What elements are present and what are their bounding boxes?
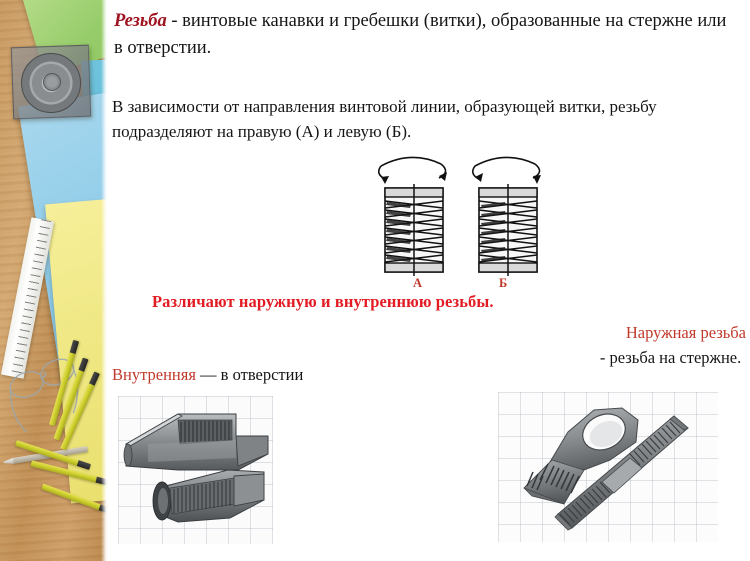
heading-thread-types: Различают наружную и внутреннюю резьбы. [152,292,494,312]
cd-disc [20,52,82,114]
outer-thread-annotation: Наружная резьба - резьба на стержне. [600,320,746,370]
figure-internal-thread: внутренняя поверхность [118,396,273,544]
internal-thread-lower [153,470,264,522]
paragraph-thread-direction: В зависимости от направления винтовой ли… [112,94,730,144]
title-term: Резьба [114,11,167,31]
left-hand-thread-body [479,184,537,276]
cd-hub [43,73,62,92]
figure-external-thread [498,392,718,542]
slide-title: Резьба - винтовые канавки и гребешки (ви… [114,8,739,62]
eye-bolt [524,408,638,504]
right-hand-thread-body [385,184,443,276]
cd-jewel-case [11,45,91,120]
thread-direction-diagram: А Б [363,146,563,298]
outer-thread-label: Наружная резьба [600,320,746,345]
photo-edge-fade [101,0,108,561]
thread-diagram-svg [363,146,563,276]
inner-thread-annotation: Внутренняя — в отверстии [112,365,303,385]
inner-thread-label: Внутренняя [112,365,196,384]
title-definition: - винтовые канавки и гребешки (витки), о… [114,11,726,58]
outer-thread-description: - резьба на стержне. [600,345,746,370]
inner-thread-description: — в отверстии [196,365,303,384]
internal-thread-upper [124,414,268,470]
decorative-photo-strip [0,0,108,561]
diagram-label-left-hand: Б [499,276,507,291]
slide-content: Резьба - винтовые канавки и гребешки (ви… [108,0,750,561]
diagram-label-right-hand: А [413,276,422,291]
